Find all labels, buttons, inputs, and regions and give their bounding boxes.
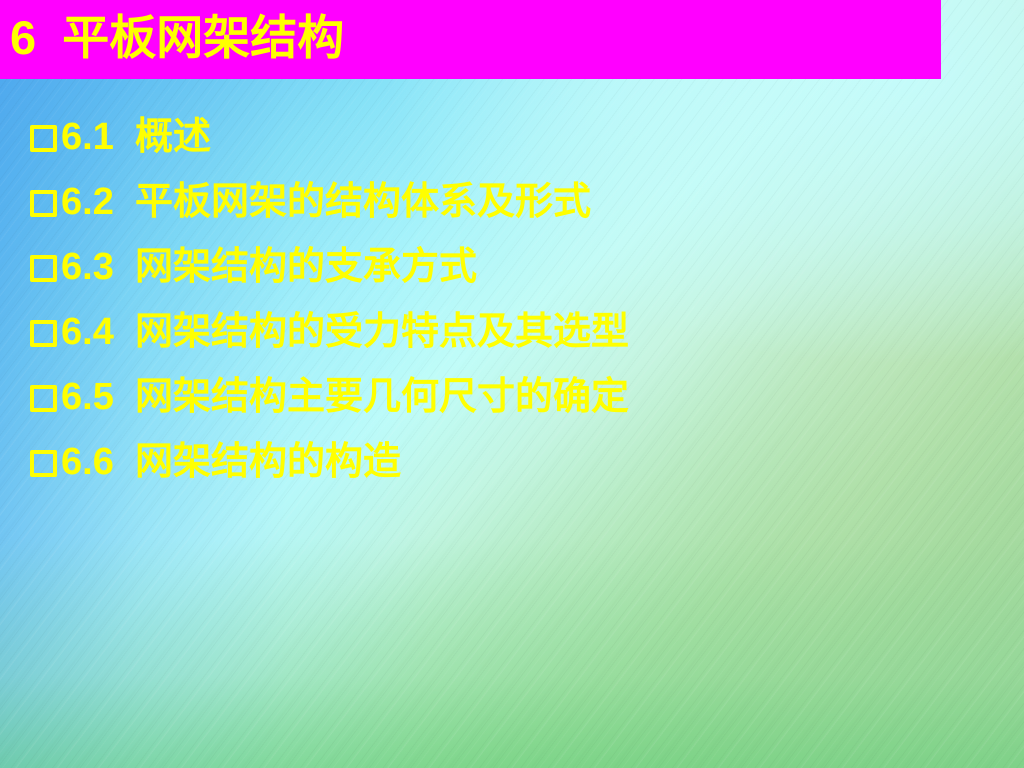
list-item-label: 6.2 平板网架的结构体系及形式 [61,179,591,225]
list-item-label: 6.6 网架结构的构造 [61,439,401,485]
hollow-square-bullet-icon [30,450,57,477]
list-item-label: 6.4 网架结构的受力特点及其选型 [61,309,629,355]
list-item[interactable]: 6.2 平板网架的结构体系及形式 [30,169,1010,234]
list-item-label: 6.5 网架结构主要几何尺寸的确定 [61,374,629,420]
slide-outline-list: 6.1 概述 6.2 平板网架的结构体系及形式 6.3 网架结构的支承方式 6.… [30,104,1010,494]
slide-title: 6 平板网架结构 [10,7,344,69]
list-item[interactable]: 6.3 网架结构的支承方式 [30,234,1010,299]
list-item-label: 6.3 网架结构的支承方式 [61,244,477,290]
hollow-square-bullet-icon [30,320,57,347]
list-item-label: 6.1 概述 [61,114,211,160]
list-item[interactable]: 6.4 网架结构的受力特点及其选型 [30,299,1010,364]
hollow-square-bullet-icon [30,385,57,412]
list-item[interactable]: 6.6 网架结构的构造 [30,429,1010,494]
hollow-square-bullet-icon [30,255,57,282]
list-item[interactable]: 6.5 网架结构主要几何尺寸的确定 [30,364,1010,429]
list-item[interactable]: 6.1 概述 [30,104,1010,169]
slide-title-bar: 6 平板网架结构 [0,0,941,79]
presentation-slide: 6 平板网架结构 6.1 概述 6.2 平板网架的结构体系及形式 6.3 网架结… [0,0,1024,768]
hollow-square-bullet-icon [30,125,57,152]
hollow-square-bullet-icon [30,190,57,217]
